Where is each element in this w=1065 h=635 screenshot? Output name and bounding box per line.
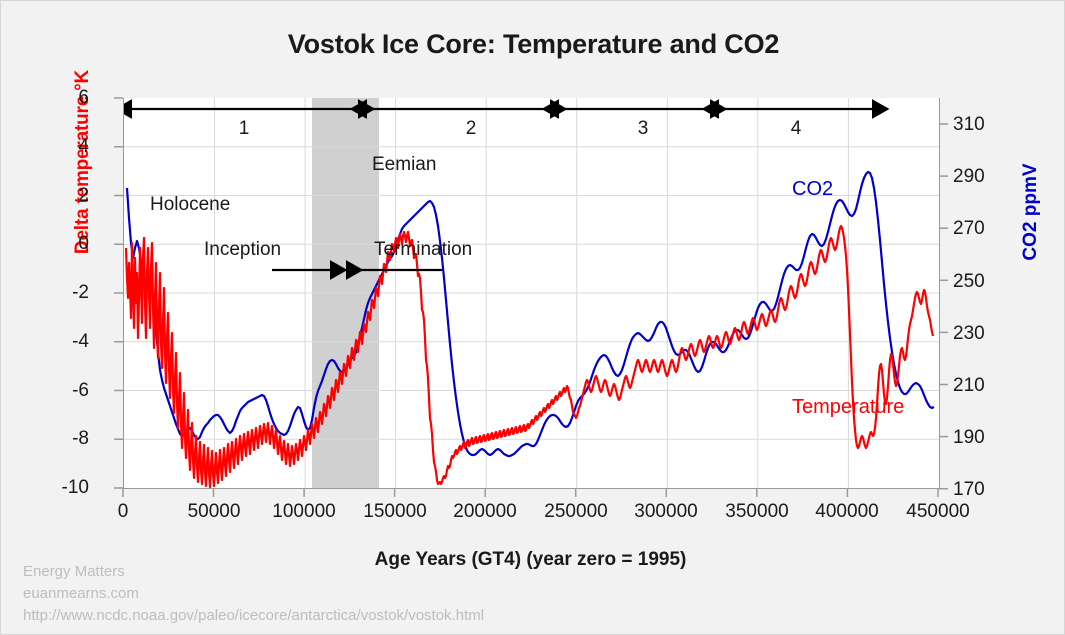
footer-line-brand: Energy Matters: [23, 561, 484, 583]
y-axis-title-right: CO2 ppmV: [1020, 112, 1042, 312]
axis-ticks-right: [938, 93, 952, 493]
y-tick-label: -4: [31, 331, 89, 353]
y2-tick-label: 290: [953, 166, 1023, 188]
footer-line-source: http://www.ncdc.noaa.gov/paleo/icecore/a…: [23, 605, 484, 627]
y-tick-label: -2: [31, 282, 89, 304]
series-label-temperature: Temperature: [792, 396, 904, 419]
axis-ticks-left: [111, 93, 125, 493]
series-label-co2: CO2: [792, 178, 833, 201]
annotation-arrows: [124, 98, 939, 488]
plot-area: 1 2 3 4 Holocene Eemian Inception Termin…: [123, 98, 940, 489]
x-tick-label: 450000: [878, 501, 998, 523]
footer-attribution: Energy Matters euanmearns.com http://www…: [23, 561, 484, 626]
y2-tick-label: 230: [953, 323, 1023, 345]
chart-title: Vostok Ice Core: Temperature and CO2: [1, 29, 1065, 60]
y2-tick-label: 270: [953, 218, 1023, 240]
y-tick-label: 2: [31, 185, 89, 207]
y-tick-label: 0: [31, 233, 89, 255]
axis-ticks-bottom: [119, 488, 949, 502]
y-tick-label: -10: [31, 477, 89, 499]
y-tick-label: 4: [31, 136, 89, 158]
y-tick-label: 6: [31, 87, 89, 109]
y2-tick-label: 250: [953, 271, 1023, 293]
chart-canvas: Vostok Ice Core: Temperature and CO2 Del…: [0, 0, 1065, 635]
y-tick-label: -8: [31, 428, 89, 450]
footer-line-site: euanmearns.com: [23, 583, 484, 605]
y2-tick-label: 170: [953, 479, 1023, 501]
y2-tick-label: 310: [953, 114, 1023, 136]
y-tick-label: -6: [31, 380, 89, 402]
y2-tick-label: 190: [953, 427, 1023, 449]
y2-tick-label: 210: [953, 375, 1023, 397]
